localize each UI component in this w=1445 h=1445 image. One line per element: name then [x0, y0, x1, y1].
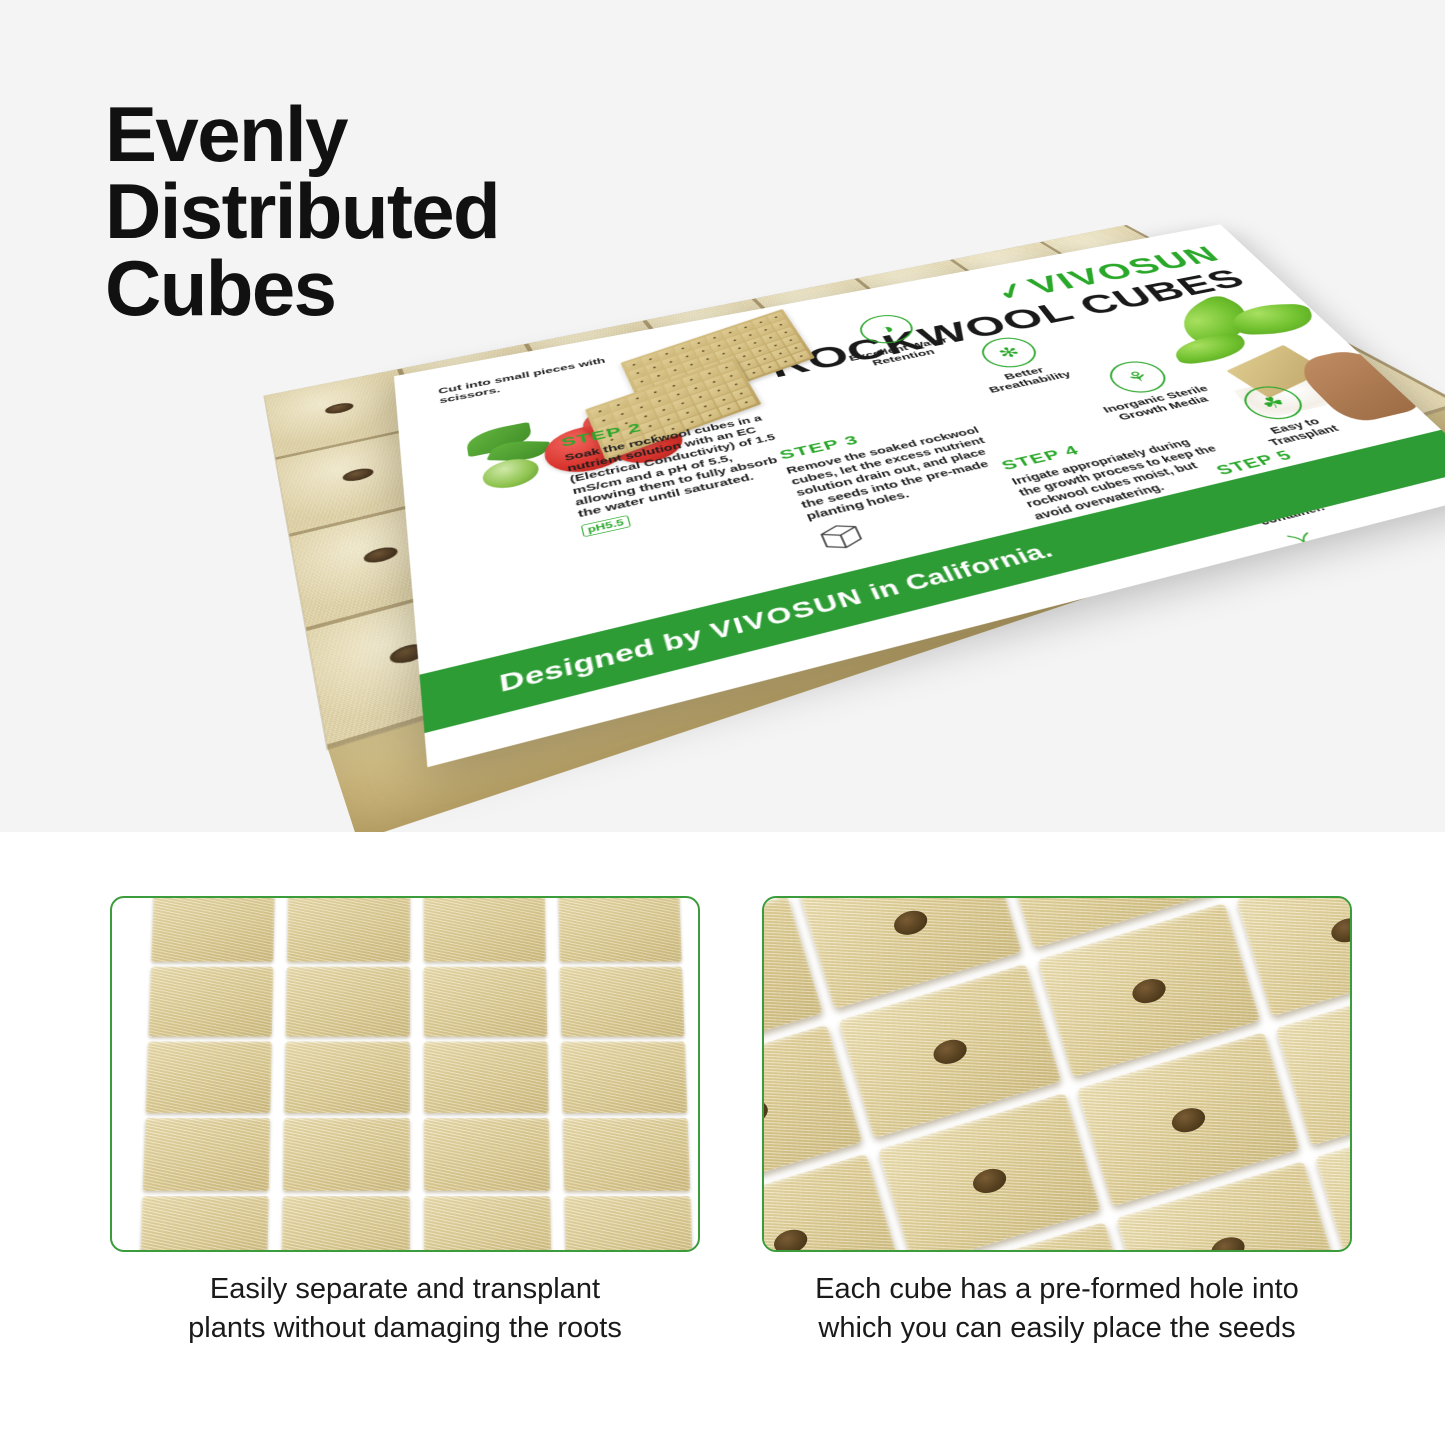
- panel-separate-transplant: [110, 896, 700, 1252]
- cube-column: [424, 896, 552, 1252]
- band-prefix: Designed by: [498, 620, 715, 697]
- cube: [286, 967, 410, 1037]
- caption-right: Each cube has a pre-formed hole into whi…: [762, 1270, 1352, 1348]
- cube: [283, 1118, 409, 1191]
- cube-column: [140, 896, 275, 1252]
- caption-left: Easily separate and transplant plants wi…: [110, 1270, 700, 1348]
- cube: [563, 1118, 691, 1191]
- cube: [282, 1197, 410, 1252]
- cube: [149, 967, 274, 1037]
- cube: [424, 1197, 552, 1252]
- cube: [146, 1042, 272, 1113]
- cube: [424, 896, 546, 962]
- instruction-card-photo: ✓VIVOSUN ROCKWOOL CUBES: [430, 150, 1445, 790]
- cube: [561, 1042, 687, 1113]
- cube-column: [282, 896, 410, 1252]
- cube: [140, 1197, 269, 1252]
- hero-section: Evenly Distributed Cubes: [0, 0, 1445, 832]
- photo-frame: [110, 896, 700, 1252]
- cube-column: [558, 896, 693, 1252]
- product-marketing-image: Evenly Distributed Cubes: [0, 0, 1445, 1445]
- cube: [558, 896, 682, 962]
- band-suffix: in California.: [857, 539, 1057, 607]
- designed-by-text: Designed by VIVOSUN in California.: [498, 539, 1058, 698]
- bottom-section: Easily separate and transplant plants wi…: [0, 832, 1445, 1445]
- cube: [564, 1197, 693, 1252]
- cube: [285, 1042, 410, 1113]
- cube: [143, 1118, 271, 1191]
- cube: [560, 967, 685, 1037]
- separated-cubes-photo: [140, 896, 693, 1252]
- cube: [424, 1042, 549, 1113]
- cube: [424, 967, 548, 1037]
- panel-preformed-hole: [762, 896, 1352, 1252]
- instruction-card: ✓VIVOSUN ROCKWOOL CUBES: [394, 224, 1445, 767]
- cube-with-hole: [762, 1153, 902, 1252]
- photo-frame: [762, 896, 1352, 1252]
- band-brand: VIVOSUN: [707, 584, 867, 644]
- cube: [424, 1118, 550, 1191]
- cube: [151, 896, 275, 962]
- cucumber-image: [481, 455, 541, 493]
- preformed-hole-cubes-photo: [762, 896, 1352, 1252]
- cube: [287, 896, 409, 962]
